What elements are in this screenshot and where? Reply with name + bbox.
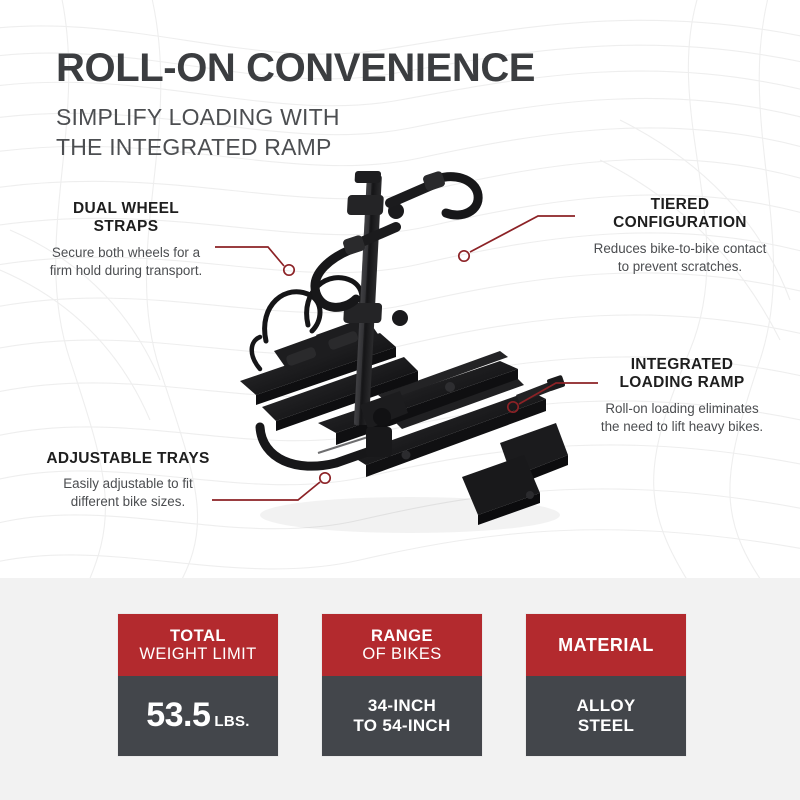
hero-section: ROLL-ON CONVENIENCE SIMPLIFY LOADING WIT… (0, 0, 800, 578)
infographic-page: ROLL-ON CONVENIENCE SIMPLIFY LOADING WIT… (0, 0, 800, 800)
callout-body: Reduces bike-to-bike contact to prevent … (580, 240, 780, 276)
spec-card-body-line2: TO 54-INCH (353, 716, 450, 736)
callout-title-line1: TIERED (651, 196, 710, 213)
callout-body-line2: to prevent scratches. (618, 259, 742, 274)
callout-title-line1: INTEGRATED (631, 356, 734, 373)
callout-tiered-configuration: TIERED CONFIGURATION Reduces bike-to-bik… (580, 196, 780, 276)
page-title: ROLL-ON CONVENIENCE (56, 48, 676, 88)
callout-body-line2: different bike sizes. (71, 494, 185, 509)
spec-card-body-line1: ALLOY (576, 696, 635, 716)
callout-title-line2: CONFIGURATION (613, 214, 747, 231)
spec-card-header-line2: WEIGHT LIMIT (139, 645, 256, 663)
spec-card-body: 53.5 LBS. (118, 676, 278, 756)
callout-body: Roll-on loading eliminates the need to l… (580, 400, 784, 436)
callout-body-line2: the need to lift heavy bikes. (601, 419, 763, 434)
spec-card-value: 53.5 (146, 696, 210, 735)
callout-title: INTEGRATED LOADING RAMP (580, 356, 784, 393)
callout-body: Secure both wheels for a firm hold durin… (36, 244, 216, 280)
spec-card-header-line1: MATERIAL (558, 635, 654, 655)
callout-title-line1: DUAL WHEEL (73, 200, 179, 217)
callout-title: DUAL WHEEL STRAPS (36, 200, 216, 237)
spec-card-total-weight-limit: TOTAL WEIGHT LIMIT 53.5 LBS. (118, 614, 278, 756)
callout-body-line2: firm hold during transport. (50, 263, 203, 278)
callout-body-line1: Secure both wheels for a (52, 245, 200, 260)
callout-dual-wheel-straps: DUAL WHEEL STRAPS Secure both wheels for… (36, 200, 216, 280)
title-block: ROLL-ON CONVENIENCE SIMPLIFY LOADING WIT… (56, 48, 676, 163)
callout-body-line1: Roll-on loading eliminates (605, 401, 758, 416)
page-subtitle: SIMPLIFY LOADING WITH THE INTEGRATED RAM… (56, 102, 676, 163)
spec-card-body: 34-INCH TO 54-INCH (322, 676, 482, 756)
callout-body-line1: Reduces bike-to-bike contact (594, 241, 767, 256)
spec-card-header: TOTAL WEIGHT LIMIT (118, 614, 278, 676)
spec-card-range-of-bikes: RANGE OF BIKES 34-INCH TO 54-INCH (322, 614, 482, 756)
spec-card-body: ALLOY STEEL (526, 676, 686, 756)
spec-card-header-line2: OF BIKES (362, 645, 441, 663)
callout-body: Easily adjustable to fit different bike … (30, 475, 226, 511)
callout-integrated-loading-ramp: INTEGRATED LOADING RAMP Roll-on loading … (580, 356, 784, 436)
spec-card-material: MATERIAL ALLOY STEEL (526, 614, 686, 756)
callout-title: ADJUSTABLE TRAYS (30, 450, 226, 468)
product-image (200, 155, 580, 555)
page-subtitle-line1: SIMPLIFY LOADING WITH (56, 102, 676, 132)
callout-adjustable-trays: ADJUSTABLE TRAYS Easily adjustable to fi… (30, 450, 226, 511)
spec-card-unit: LBS. (214, 713, 249, 730)
spec-card-list: TOTAL WEIGHT LIMIT 53.5 LBS. RANGE OF BI… (118, 614, 686, 756)
callout-title-line2: STRAPS (94, 218, 159, 235)
callout-title-line1: ADJUSTABLE TRAYS (46, 450, 209, 467)
spec-card-header-line1: RANGE (371, 627, 433, 645)
spec-card-body-line1: 34-INCH (368, 696, 436, 716)
callout-title-line2: LOADING RAMP (619, 374, 744, 391)
callout-body-line1: Easily adjustable to fit (63, 476, 193, 491)
spec-card-header: MATERIAL (526, 614, 686, 676)
spec-card-body-line2: STEEL (578, 716, 634, 736)
spec-strip: TOTAL WEIGHT LIMIT 53.5 LBS. RANGE OF BI… (0, 578, 800, 800)
spec-card-header: RANGE OF BIKES (322, 614, 482, 676)
spec-card-header-line1: TOTAL (170, 627, 226, 645)
callout-title: TIERED CONFIGURATION (580, 196, 780, 233)
